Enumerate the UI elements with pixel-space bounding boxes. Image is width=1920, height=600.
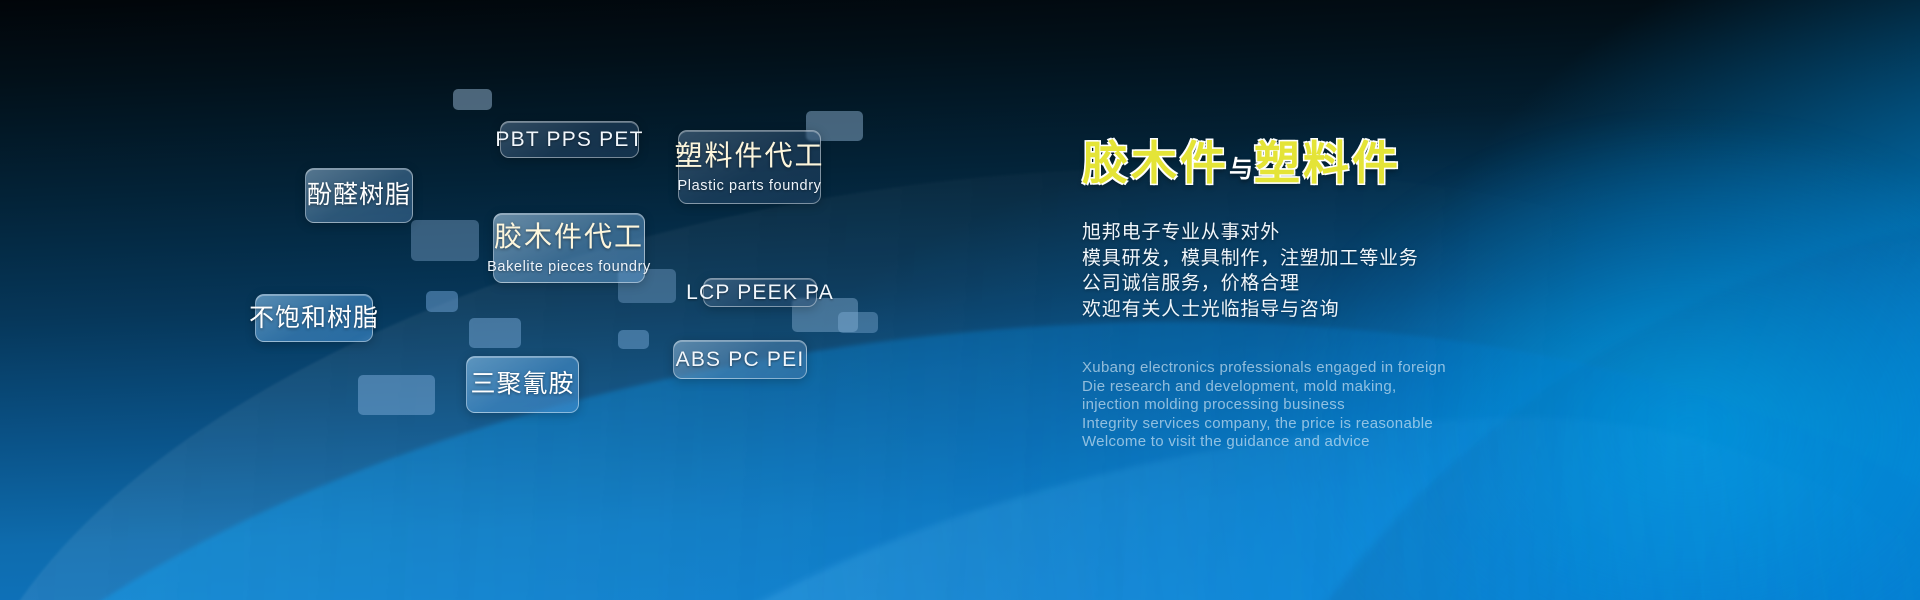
- tag-material-codes: LCP PEEK PA: [686, 281, 834, 305]
- tag-material-cn: 酚醛树脂: [307, 181, 411, 210]
- tag-unsaturated-resin[interactable]: 不饱和树脂: [255, 294, 373, 342]
- tag-subtitle-en: Plastic parts foundry: [678, 178, 822, 194]
- tag-material-codes: ABS PC PEI: [676, 348, 805, 372]
- decorative-rectangle: [453, 89, 492, 110]
- tag-plastic-parts-foundry[interactable]: 塑料件代工Plastic parts foundry: [678, 130, 821, 204]
- chinese-description-line: 公司诚信服务，价格合理: [1082, 273, 1842, 296]
- chinese-description-line: 旭邦电子专业从事对外: [1082, 222, 1842, 245]
- english-description-line: Integrity services company, the price is…: [1082, 415, 1842, 434]
- headline-part-1: 胶木件: [1082, 137, 1229, 189]
- chinese-description-line: 欢迎有关人士光临指导与咨询: [1082, 299, 1842, 322]
- headline-conjunction: 与: [1229, 156, 1254, 183]
- page-title: 胶木件与塑料件: [1082, 140, 1842, 186]
- tag-material-cn: 三聚氰胺: [470, 370, 574, 399]
- tag-bakelite-pieces-foundry[interactable]: 胶木件代工Bakelite pieces foundry: [493, 213, 645, 283]
- decorative-rectangle: [469, 318, 521, 348]
- decorative-rectangle: [618, 330, 649, 349]
- tag-abs-pc-pei[interactable]: ABS PC PEI: [673, 340, 807, 379]
- promo-banner: PBT PPS PET酚醛树脂塑料件代工Plastic parts foundr…: [0, 0, 1920, 600]
- chinese-description: 旭邦电子专业从事对外模具研发，模具制作，注塑加工等业务公司诚信服务，价格合理欢迎…: [1082, 222, 1842, 321]
- decorative-rectangle: [358, 375, 435, 415]
- chinese-description-line: 模具研发，模具制作，注塑加工等业务: [1082, 248, 1842, 271]
- tag-material-codes: PBT PPS PET: [495, 128, 643, 152]
- tag-title-cn: 塑料件代工: [675, 140, 825, 172]
- tag-title-cn: 胶木件代工: [494, 221, 644, 253]
- headline-part-2: 塑料件: [1254, 137, 1401, 189]
- english-description-line: injection molding processing business: [1082, 396, 1842, 415]
- tag-lcp-peek-pa[interactable]: LCP PEEK PA: [703, 278, 817, 307]
- decorative-rectangle: [838, 312, 878, 333]
- tag-material-cn: 不饱和树脂: [249, 304, 379, 333]
- decorative-rectangle: [426, 291, 458, 312]
- english-description-line: Welcome to visit the guidance and advice: [1082, 433, 1842, 452]
- tag-pbt-pps-pet[interactable]: PBT PPS PET: [500, 121, 639, 158]
- tag-phenolic-resin[interactable]: 酚醛树脂: [305, 168, 413, 223]
- tag-subtitle-en: Bakelite pieces foundry: [487, 259, 651, 275]
- english-description-line: Xubang electronics professionals engaged…: [1082, 359, 1842, 378]
- english-description: Xubang electronics professionals engaged…: [1082, 359, 1842, 452]
- tag-melamine[interactable]: 三聚氰胺: [466, 356, 579, 413]
- english-description-line: Die research and development, mold makin…: [1082, 378, 1842, 397]
- decorative-rectangle: [411, 220, 479, 261]
- copy-column: 胶木件与塑料件 旭邦电子专业从事对外模具研发，模具制作，注塑加工等业务公司诚信服…: [1082, 140, 1842, 452]
